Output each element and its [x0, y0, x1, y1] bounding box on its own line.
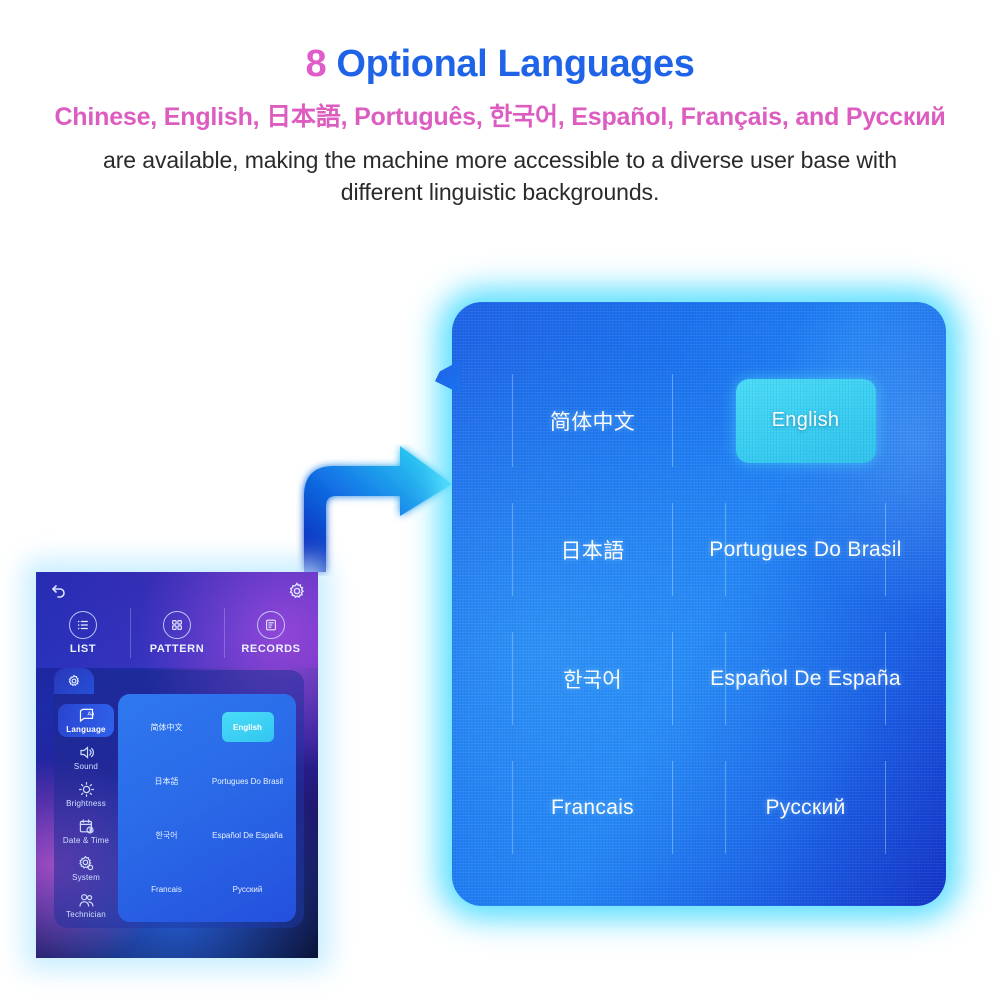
- language-option-spanish[interactable]: Español De España: [699, 614, 912, 743]
- device-language-option-chinese[interactable]: 简体中文: [126, 700, 207, 754]
- list-icon: [69, 611, 97, 639]
- gear-icon[interactable]: [288, 582, 306, 600]
- sidebar-item-system[interactable]: System: [58, 852, 114, 885]
- device-language-option-korean[interactable]: 한국어: [126, 808, 207, 862]
- body-line-1: are available, making the machine more a…: [50, 144, 950, 176]
- language-panel: 简体中文 English 日本語 Portugues Do Brasil 한국어: [452, 302, 946, 906]
- language-option-japanese[interactable]: 日本語: [486, 485, 699, 614]
- svg-text:Aa: Aa: [87, 712, 95, 718]
- device-language-label: 한국어: [155, 830, 177, 841]
- title-text: Optional Languages: [326, 43, 694, 85]
- language-option-chinese[interactable]: 简体中文: [486, 356, 699, 485]
- calendar-clock-icon: [78, 818, 95, 835]
- sidebar-item-brightness[interactable]: Brightness: [58, 778, 114, 811]
- sidebar-item-label: Sound: [74, 762, 98, 771]
- device-language-label: 简体中文: [151, 722, 183, 733]
- device-language-label: 日本語: [155, 776, 179, 787]
- sidebar-item-language[interactable]: Aa Language: [58, 704, 114, 737]
- device-language-option-spanish[interactable]: Español De España: [207, 808, 288, 862]
- language-grid: 简体中文 English 日本語 Portugues Do Brasil 한국어: [452, 302, 946, 906]
- language-option-label: Español De España: [710, 667, 901, 691]
- device-language-grid: 简体中文 English 日本語 Portugues Do Brasil 한국어…: [118, 694, 296, 922]
- gear-system-icon: [78, 855, 95, 872]
- sidebar-item-label: Brightness: [66, 799, 106, 808]
- people-icon: [78, 892, 95, 909]
- sidebar-item-technician[interactable]: Technician: [58, 889, 114, 922]
- device-tabs: LIST PATTERN: [36, 600, 318, 666]
- device-language-label: Русский: [233, 885, 263, 894]
- device-language-option-portuguese[interactable]: Portugues Do Brasil: [207, 754, 288, 808]
- device-language-option-japanese[interactable]: 日本語: [126, 754, 207, 808]
- language-option-label: 한국어: [563, 664, 622, 694]
- tab-list[interactable]: LIST: [36, 600, 130, 666]
- settings-tab-gear-icon[interactable]: [54, 668, 94, 694]
- body-paragraph: are available, making the machine more a…: [50, 144, 950, 208]
- language-option-label: Русский: [765, 796, 845, 820]
- language-panel-enlarged: 简体中文 English 日本語 Portugues Do Brasil 한국어: [452, 302, 946, 906]
- language-option-portuguese[interactable]: Portugues Do Brasil: [699, 485, 912, 614]
- sidebar-item-label: Language: [66, 725, 105, 734]
- tab-records[interactable]: RECORDS: [224, 600, 318, 666]
- sidebar-item-label: Date & Time: [63, 836, 109, 845]
- tab-label: LIST: [70, 643, 96, 655]
- page-title: 8 Optional Languages: [0, 42, 1000, 86]
- language-option-french[interactable]: Francais: [486, 743, 699, 872]
- language-option-label: Francais: [551, 796, 634, 820]
- curved-right-arrow-icon: [296, 444, 456, 576]
- device-screen: LIST PATTERN: [36, 572, 318, 958]
- device-screenshot: LIST PATTERN: [36, 572, 318, 958]
- tab-label: RECORDS: [241, 643, 300, 655]
- language-option-label: 日本語: [561, 535, 625, 565]
- sun-icon: [78, 781, 95, 798]
- body-line-2: different linguistic backgrounds.: [50, 176, 950, 208]
- grid-dots-icon: [163, 611, 191, 639]
- device-language-label: Español De España: [212, 831, 283, 840]
- device-top-bar: LIST PATTERN: [36, 572, 318, 668]
- device-language-label: English: [233, 723, 262, 732]
- language-option-label: 简体中文: [550, 406, 635, 436]
- language-option-korean[interactable]: 한국어: [486, 614, 699, 743]
- device-language-option-french[interactable]: Francais: [126, 862, 207, 916]
- speaker-icon: [78, 744, 95, 761]
- device-language-label: Francais: [151, 885, 182, 894]
- language-option-label: Portugues Do Brasil: [709, 538, 901, 562]
- records-icon: [257, 611, 285, 639]
- device-settings-sidebar: Aa Language Sound: [58, 700, 114, 922]
- languages-list-line: Chinese, English, 日本語, Português, 한국어, E…: [0, 102, 1000, 132]
- sidebar-item-label: Technician: [66, 910, 106, 919]
- device-language-label: Portugues Do Brasil: [212, 777, 283, 786]
- page-root: 8 Optional Languages Chinese, English, 日…: [0, 0, 1000, 1000]
- language-icon: Aa: [78, 707, 95, 724]
- back-arrow-icon[interactable]: [49, 583, 67, 601]
- sidebar-item-label: System: [72, 873, 100, 882]
- tab-pattern[interactable]: PATTERN: [130, 600, 224, 666]
- language-option-russian[interactable]: Русский: [699, 743, 912, 872]
- tab-label: PATTERN: [150, 643, 205, 655]
- sidebar-item-sound[interactable]: Sound: [58, 741, 114, 774]
- device-language-option-russian[interactable]: Русский: [207, 862, 288, 916]
- sidebar-item-date-time[interactable]: Date & Time: [58, 815, 114, 848]
- title-count: 8: [306, 43, 327, 85]
- device-language-option-english[interactable]: English: [207, 700, 288, 754]
- language-option-english[interactable]: English: [699, 356, 912, 485]
- heading-block: 8 Optional Languages Chinese, English, 日…: [0, 0, 1000, 208]
- language-option-label: English: [772, 409, 840, 432]
